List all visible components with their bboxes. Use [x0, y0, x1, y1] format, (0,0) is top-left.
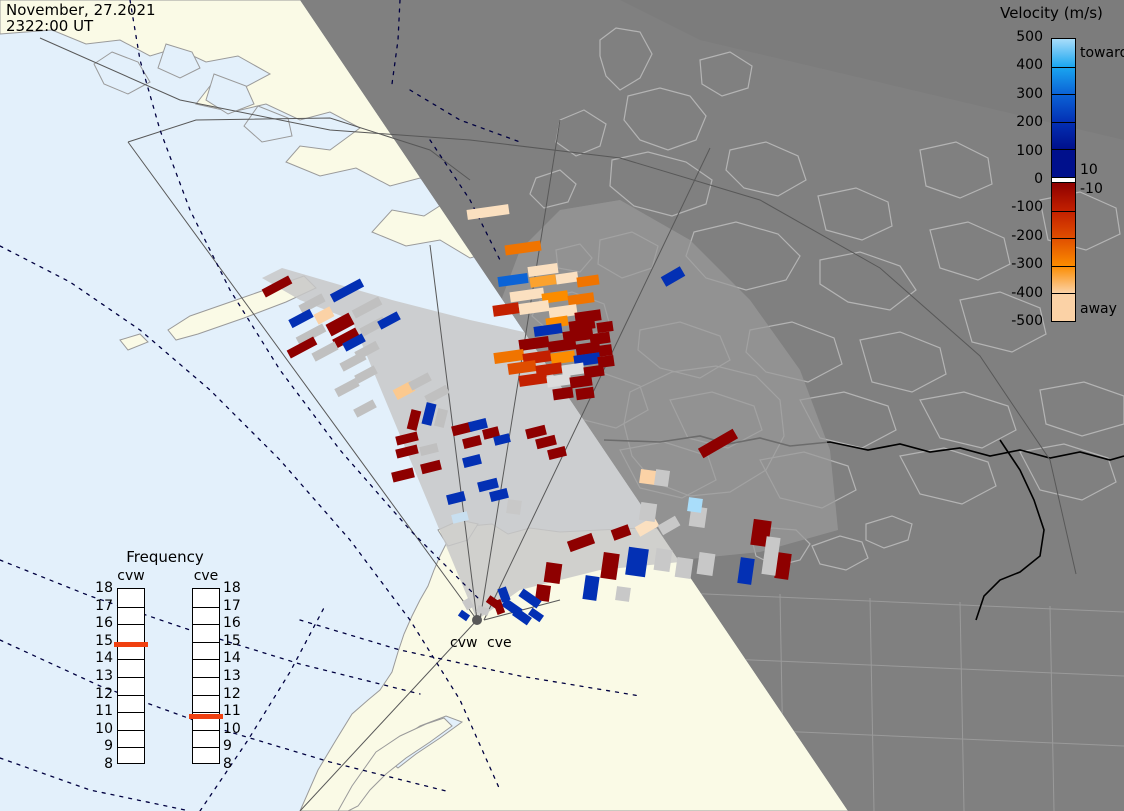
- frequency-gridline: [193, 607, 219, 608]
- frequency-tick-cvw-4: 14: [91, 652, 113, 664]
- colorbar-tick-10: -500: [988, 313, 1043, 329]
- colorbar-band-toward-3: [1052, 122, 1075, 150]
- frequency-legend: Frequency cvw18171615141312111098cve1817…: [80, 548, 250, 783]
- colorbar-zero-upper-label: 10: [1080, 162, 1098, 178]
- colorbar-tick-7: -200: [988, 228, 1043, 244]
- colorbar-band-toward-4: [1052, 149, 1075, 177]
- radar-site-marker: [472, 615, 482, 625]
- frequency-tick-cve-4: 14: [223, 652, 245, 664]
- colorbar-band-away-4: [1052, 293, 1075, 321]
- frequency-gridline: [193, 730, 219, 731]
- colorbar-divider: [1052, 149, 1075, 150]
- colorbar-title: Velocity (m/s): [979, 4, 1124, 22]
- velocity-cell: [625, 547, 649, 578]
- colorbar-divider: [1052, 293, 1075, 294]
- colorbar-tick-3: 200: [988, 114, 1043, 130]
- frequency-tick-cve-10: 8: [223, 758, 245, 770]
- frequency-gridline: [193, 747, 219, 748]
- colorbar-tick-2: 300: [988, 86, 1043, 102]
- frequency-tick-cve-3: 15: [223, 635, 245, 647]
- frequency-tick-cve-2: 16: [223, 617, 245, 629]
- frequency-bar-cve: [192, 588, 220, 764]
- velocity-colorbar: Velocity (m/s) 5004003002001000-100-200-…: [975, 0, 1124, 340]
- frequency-tick-cvw-10: 8: [91, 758, 113, 770]
- colorbar-toward-label: toward: [1080, 45, 1124, 61]
- colorbar-tick-1: 400: [988, 57, 1043, 73]
- frequency-tick-cve-8: 10: [223, 723, 245, 735]
- frequency-tick-cvw-9: 9: [91, 740, 113, 752]
- colorbar-away-label: away: [1080, 301, 1117, 317]
- colorbar-zero-lower-label: -10: [1080, 181, 1103, 197]
- colorbar-divider: [1052, 67, 1075, 68]
- frequency-tick-cvw-1: 17: [91, 600, 113, 612]
- frequency-gridline: [118, 730, 144, 731]
- velocity-cell: [506, 499, 522, 515]
- frequency-gridline: [118, 695, 144, 696]
- frequency-tick-cvw-2: 16: [91, 617, 113, 629]
- frequency-tick-cvw-5: 13: [91, 670, 113, 682]
- velocity-cell: [697, 552, 716, 576]
- colorbar-gradient: [1051, 38, 1076, 322]
- colorbar-tick-8: -300: [988, 256, 1043, 272]
- page-title-time: 2322:00 UT: [6, 18, 93, 34]
- frequency-marker-cvw: [114, 642, 148, 647]
- frequency-tick-cve-7: 11: [223, 705, 245, 717]
- velocity-cell: [639, 469, 657, 485]
- frequency-tick-cvw-3: 15: [91, 635, 113, 647]
- frequency-tick-cve-1: 17: [223, 600, 245, 612]
- frequency-gridline: [193, 659, 219, 660]
- page-title-date: November, 27.2021: [6, 2, 156, 18]
- colorbar-tick-9: -400: [988, 285, 1043, 301]
- colorbar-band-toward-1: [1052, 67, 1075, 95]
- frequency-gridline: [118, 712, 144, 713]
- colorbar-band-away-3: [1052, 266, 1075, 294]
- velocity-cell: [654, 469, 670, 487]
- frequency-tick-cvw-8: 10: [91, 723, 113, 735]
- frequency-tick-cve-0: 18: [223, 582, 245, 594]
- frequency-tick-cve-5: 13: [223, 670, 245, 682]
- frequency-tick-cvw-7: 11: [91, 705, 113, 717]
- colorbar-tick-6: -100: [988, 199, 1043, 215]
- frequency-gridline: [118, 607, 144, 608]
- colorbar-tick-0: 500: [988, 29, 1043, 45]
- velocity-cell: [639, 502, 657, 522]
- frequency-tick-cve-6: 12: [223, 688, 245, 700]
- colorbar-band-toward-2: [1052, 94, 1075, 122]
- frequency-gridline: [118, 747, 144, 748]
- colorbar-band-toward-0: [1052, 39, 1075, 67]
- frequency-gridline: [118, 677, 144, 678]
- colorbar-divider: [1052, 266, 1075, 267]
- site-label-cve: cve: [487, 635, 512, 651]
- frequency-gridline: [193, 695, 219, 696]
- frequency-gridline: [193, 624, 219, 625]
- site-label-cvw: cvw: [450, 635, 477, 651]
- frequency-tick-cvw-0: 18: [91, 582, 113, 594]
- colorbar-divider: [1052, 94, 1075, 95]
- colorbar-divider: [1052, 238, 1075, 239]
- velocity-cell: [687, 497, 703, 513]
- frequency-gridline: [118, 624, 144, 625]
- radar-map-view: November, 27.2021 2322:00 UT Velocity (m…: [0, 0, 1124, 811]
- colorbar-band-away-1: [1052, 211, 1075, 239]
- velocity-cell: [654, 548, 673, 572]
- colorbar-band-away-2: [1052, 238, 1075, 266]
- colorbar-divider: [1052, 122, 1075, 123]
- velocity-cell: [597, 344, 612, 357]
- frequency-tick-cve-9: 9: [223, 740, 245, 752]
- colorbar-tick-4: 100: [988, 143, 1043, 159]
- velocity-cell: [675, 557, 694, 579]
- velocity-cell: [615, 586, 631, 602]
- frequency-gridline: [118, 659, 144, 660]
- colorbar-band-away-0: [1052, 183, 1075, 211]
- colorbar-divider: [1052, 211, 1075, 212]
- velocity-cell: [544, 562, 563, 584]
- frequency-legend-title: Frequency: [80, 548, 250, 566]
- frequency-marker-cve: [189, 714, 223, 719]
- frequency-gridline: [193, 677, 219, 678]
- frequency-tick-cvw-6: 12: [91, 688, 113, 700]
- frequency-gridline: [193, 642, 219, 643]
- frequency-bar-cvw: [117, 588, 145, 764]
- colorbar-tick-5: 0: [988, 171, 1043, 187]
